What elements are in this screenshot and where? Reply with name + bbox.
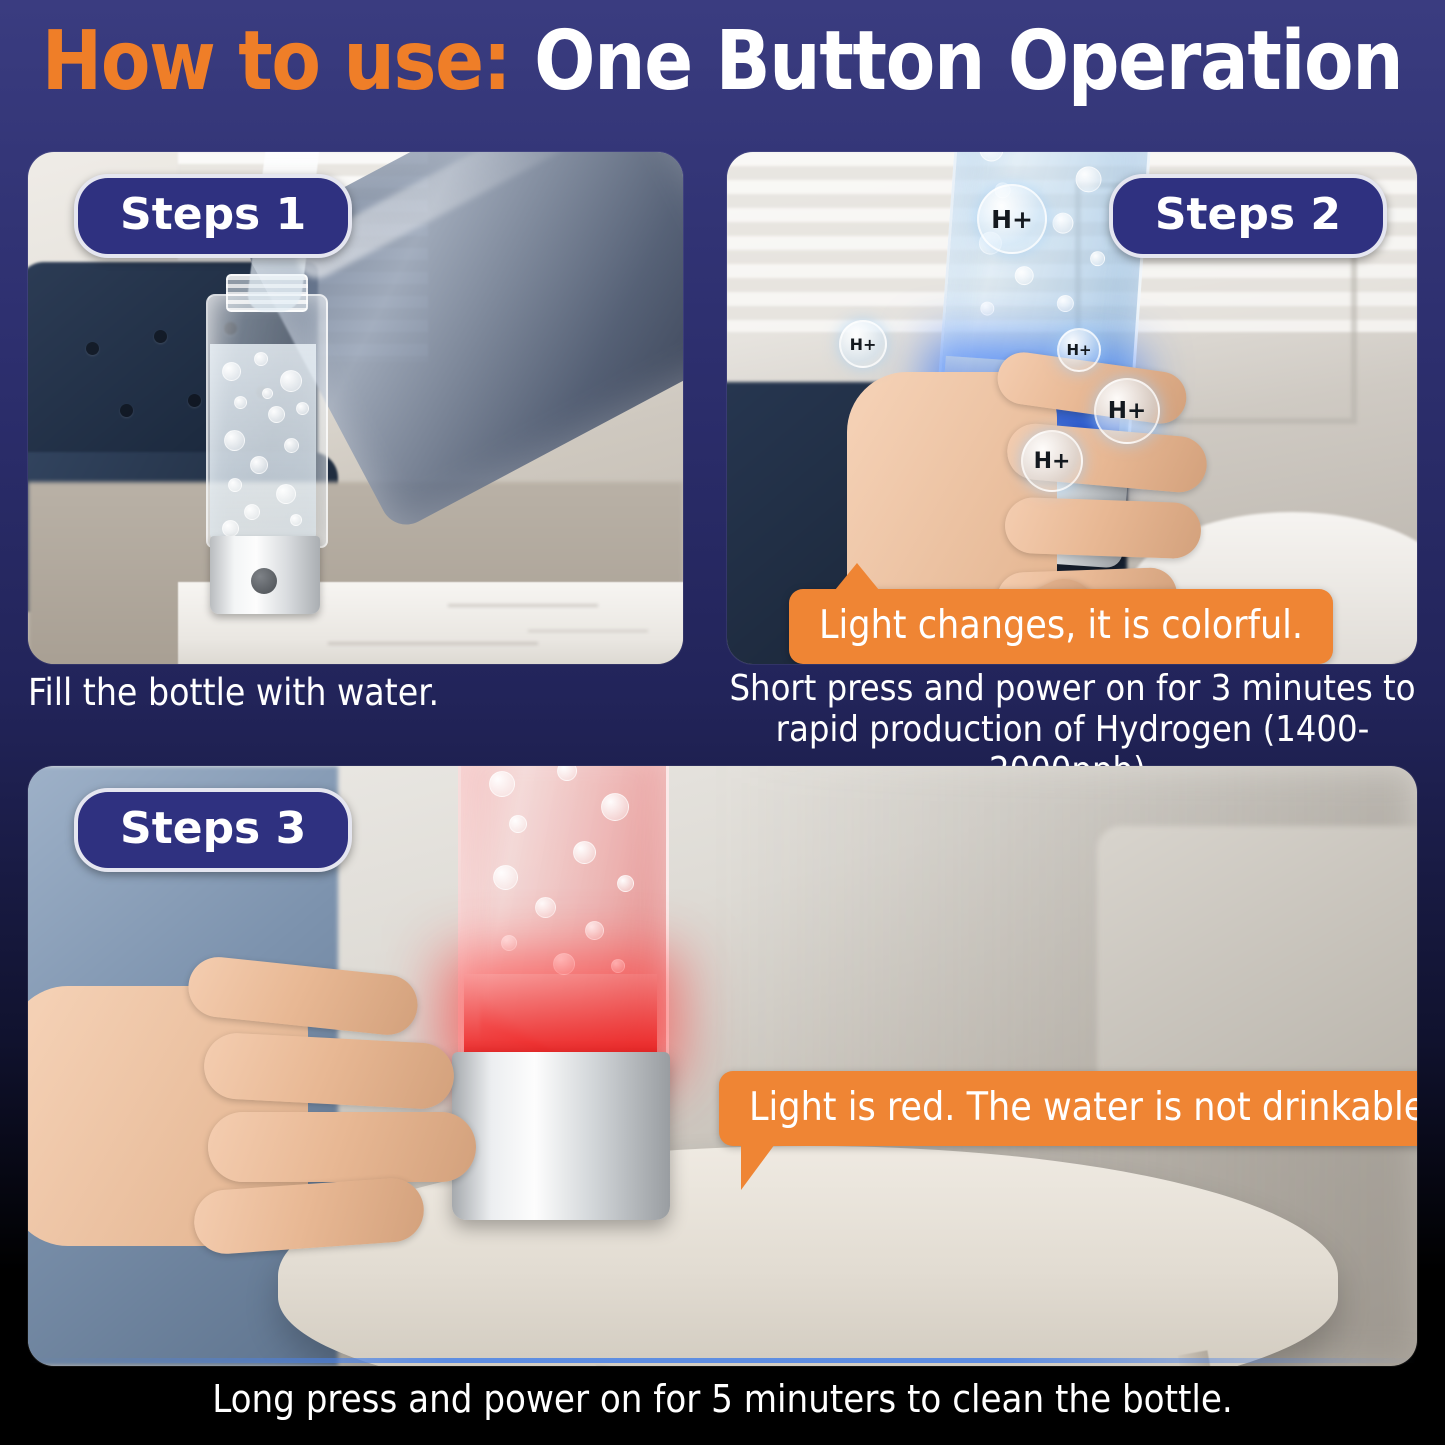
marble-vein — [528, 630, 648, 632]
step-2-callout-text: Light changes, it is colorful. — [819, 603, 1303, 648]
step-2-badge: Steps 2 — [1109, 174, 1387, 258]
hydrogen-bubble-label: H+ — [977, 184, 1047, 254]
step-2-callout: Light changes, it is colorful. — [789, 589, 1333, 664]
product-infographic: How to use: One Button Operation — [0, 0, 1445, 1445]
hydrogen-bottle — [206, 274, 324, 584]
step-3-badge: Steps 3 — [74, 788, 352, 872]
step-3-image-panel: Light is red. The water is not drinkable… — [28, 766, 1417, 1366]
step-3-caption: Long press and power on for 5 minuters t… — [28, 1378, 1417, 1421]
hand — [28, 926, 568, 1286]
blue-divider-line — [28, 1358, 1417, 1363]
marble-vein — [328, 642, 538, 645]
page-title: How to use: One Button Operation — [0, 0, 1445, 122]
callout-tail — [741, 1144, 775, 1190]
callout-tail — [835, 563, 879, 590]
hydrogen-bubble-label: H+ — [1094, 378, 1160, 444]
step-2-image-panel: H+ H+ H+ H+ H+ Light changes, it is colo… — [727, 152, 1417, 664]
step-2-caption-line-1: Short press and power on for 3 minutes t… — [700, 668, 1445, 709]
marble-vein — [448, 604, 598, 607]
hydrogen-bubble-label: H+ — [1021, 430, 1083, 492]
sofa-tuft — [188, 394, 201, 407]
step-3-callout: Light is red. The water is not drinkable… — [719, 1071, 1417, 1146]
step-1-image-panel: Steps 1 — [28, 152, 683, 664]
sofa-tuft — [86, 342, 99, 355]
power-button-icon — [251, 568, 277, 594]
title-prefix: How to use: — [42, 14, 511, 109]
title-main: One Button Operation — [535, 14, 1403, 109]
sofa-tuft — [120, 404, 133, 417]
step-1-badge: Steps 1 — [74, 174, 352, 258]
step-1-caption: Fill the bottle with water. — [28, 672, 683, 714]
bottle-water — [210, 344, 316, 540]
hydrogen-bubble-label: H+ — [839, 320, 887, 368]
step-3-callout-text: Light is red. The water is not drinkable… — [749, 1085, 1417, 1130]
sofa-tuft — [154, 330, 167, 343]
index-finger — [208, 1112, 476, 1182]
